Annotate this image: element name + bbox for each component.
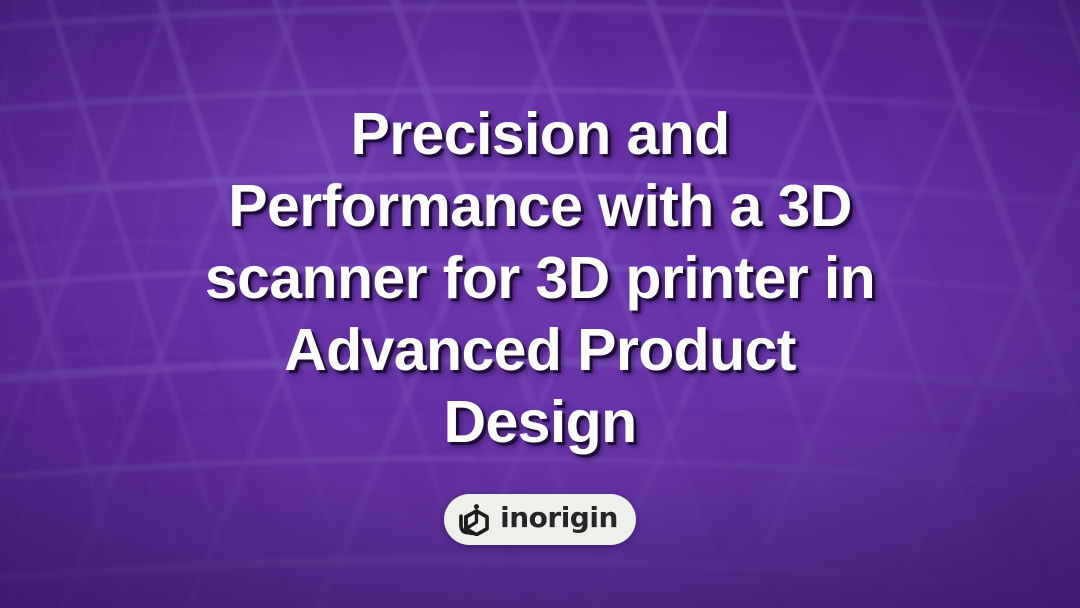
banner-content: Precision and Performance with a 3D scan…: [0, 0, 1080, 608]
hexagon-cube-icon: [458, 503, 491, 536]
inorigin-logo-pill[interactable]: inorigin: [444, 494, 636, 545]
inorigin-wordmark: inorigin: [500, 504, 618, 534]
banner-canvas: Precision and Performance with a 3D scan…: [0, 0, 1080, 608]
headline-title: Precision and Performance with a 3D scan…: [190, 98, 890, 458]
